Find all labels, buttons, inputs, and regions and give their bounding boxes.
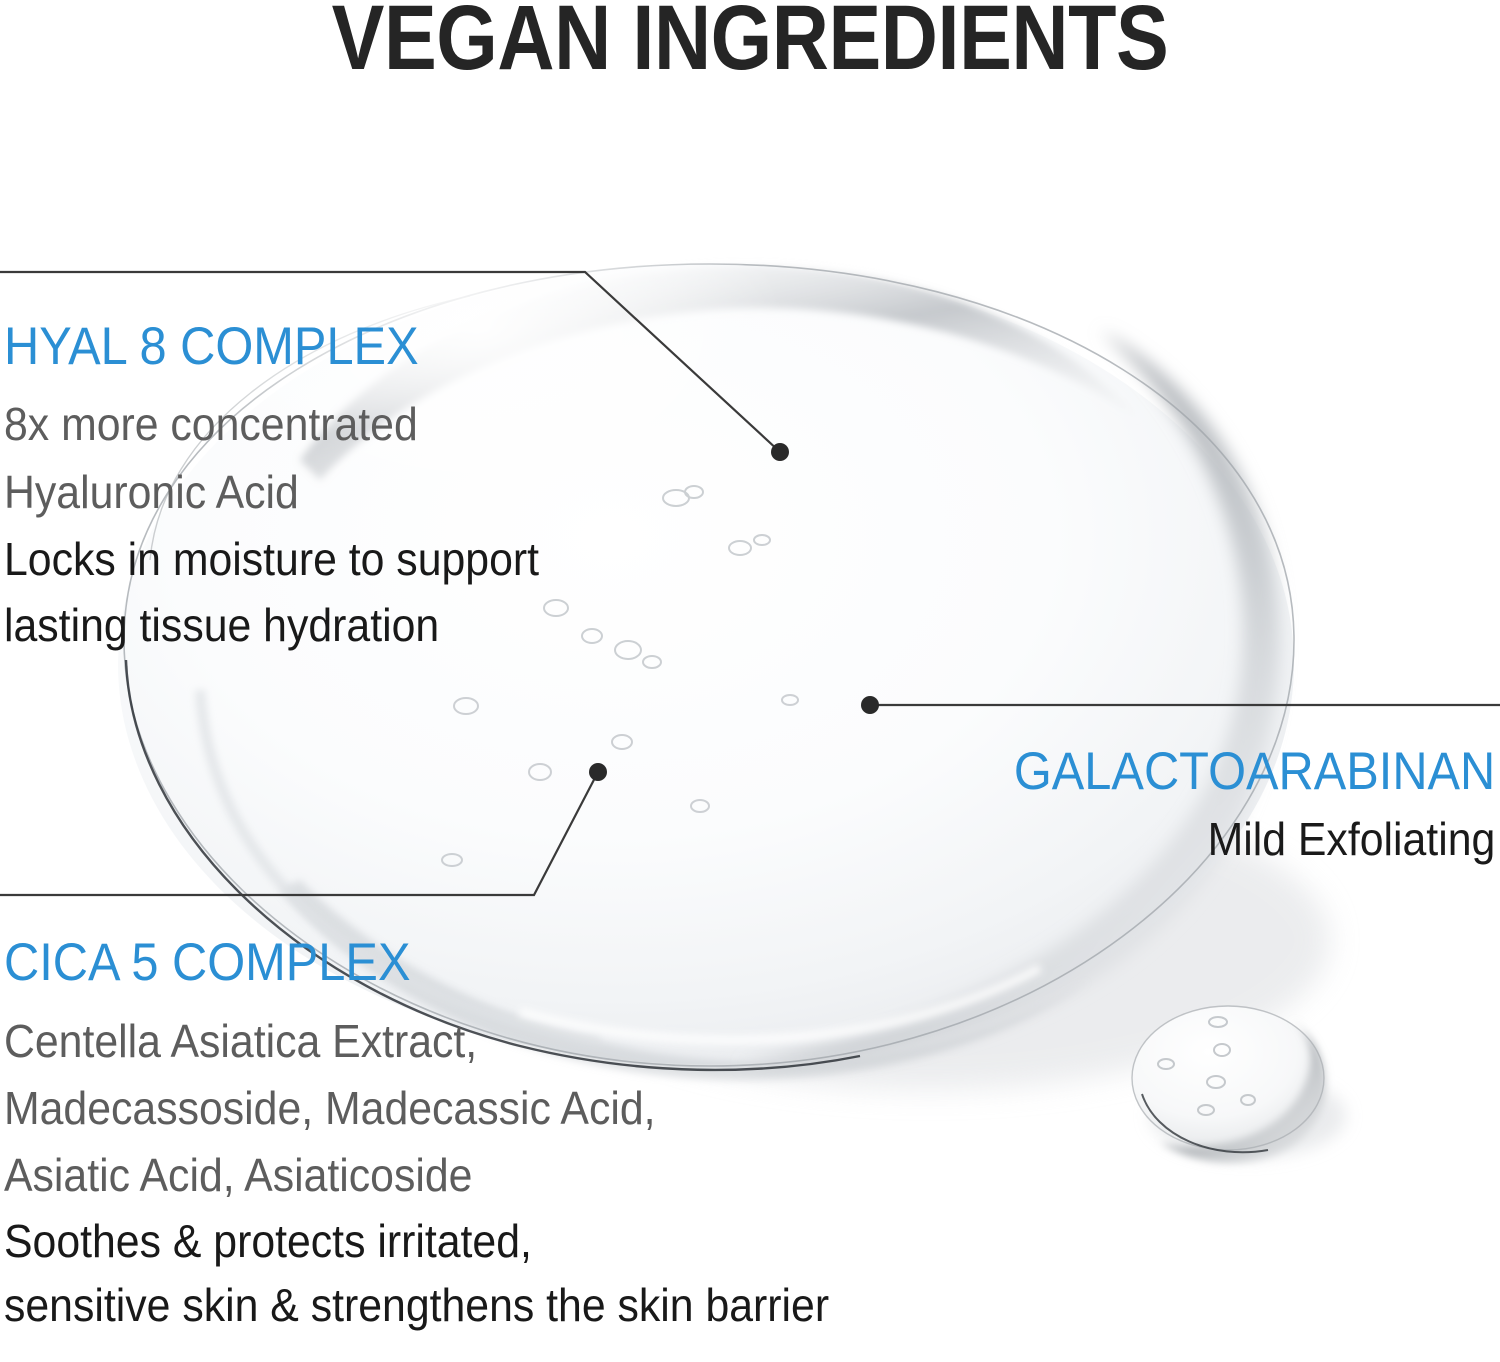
small-gel-outline-bottom xyxy=(1142,1094,1268,1152)
ingredient-detail-line: Centella Asiatica Extract, xyxy=(4,1008,829,1075)
small-gel-outline xyxy=(1132,1006,1324,1150)
leader-dot-hyal xyxy=(771,443,789,461)
small-gel-rim xyxy=(1160,1018,1326,1163)
ingredient-detail-line: 8x more concentrated xyxy=(4,390,539,458)
leader-dot-cica xyxy=(589,763,607,781)
ingredient-detail-line: Madecassoside, Madecassic Acid, xyxy=(4,1075,829,1142)
ingredient-benefit-line: Soothes & protects irritated, xyxy=(4,1209,829,1273)
ingredient-benefit-line: lasting tissue hydration xyxy=(4,592,539,658)
ingredient-benefit-line: Locks in moisture to support xyxy=(4,526,539,592)
small-gel-bubbles xyxy=(1158,1017,1255,1115)
ingredient-block-galactoarabinan: GALACTOARABINAN Mild Exfoliating xyxy=(972,742,1495,870)
small-gel-body xyxy=(1132,1006,1324,1150)
ingredient-benefit-line: Mild Exfoliating xyxy=(1008,808,1495,870)
ingredient-block-cica-5-complex: CICA 5 COMPLEX Centella Asiatica Extract… xyxy=(4,932,891,1337)
ingredient-detail-line: Asiatic Acid, Asiaticoside xyxy=(4,1142,829,1209)
small-gel-shadow xyxy=(1150,1074,1346,1158)
ingredient-heading-cica-5-complex: CICA 5 COMPLEX xyxy=(4,932,820,994)
ingredient-benefit-line: sensitive skin & strengthens the skin ba… xyxy=(4,1273,829,1337)
ingredient-detail-line: Hyaluronic Acid xyxy=(4,458,539,526)
infographic-page: VEGAN INGREDIENTS HYAL 8 COMPLEX 8x more… xyxy=(0,0,1500,1362)
ingredient-block-hyal-8-complex: HYAL 8 COMPLEX 8x more concentrated Hyal… xyxy=(4,316,579,658)
ingredient-heading-hyal-8-complex: HYAL 8 COMPLEX xyxy=(4,316,533,378)
leader-line-cica xyxy=(0,772,598,895)
leader-dot-galactoarabinan xyxy=(861,696,879,714)
ingredient-heading-galactoarabinan: GALACTOARABINAN xyxy=(1014,742,1495,802)
page-title: VEGAN INGREDIENTS xyxy=(105,0,1395,84)
